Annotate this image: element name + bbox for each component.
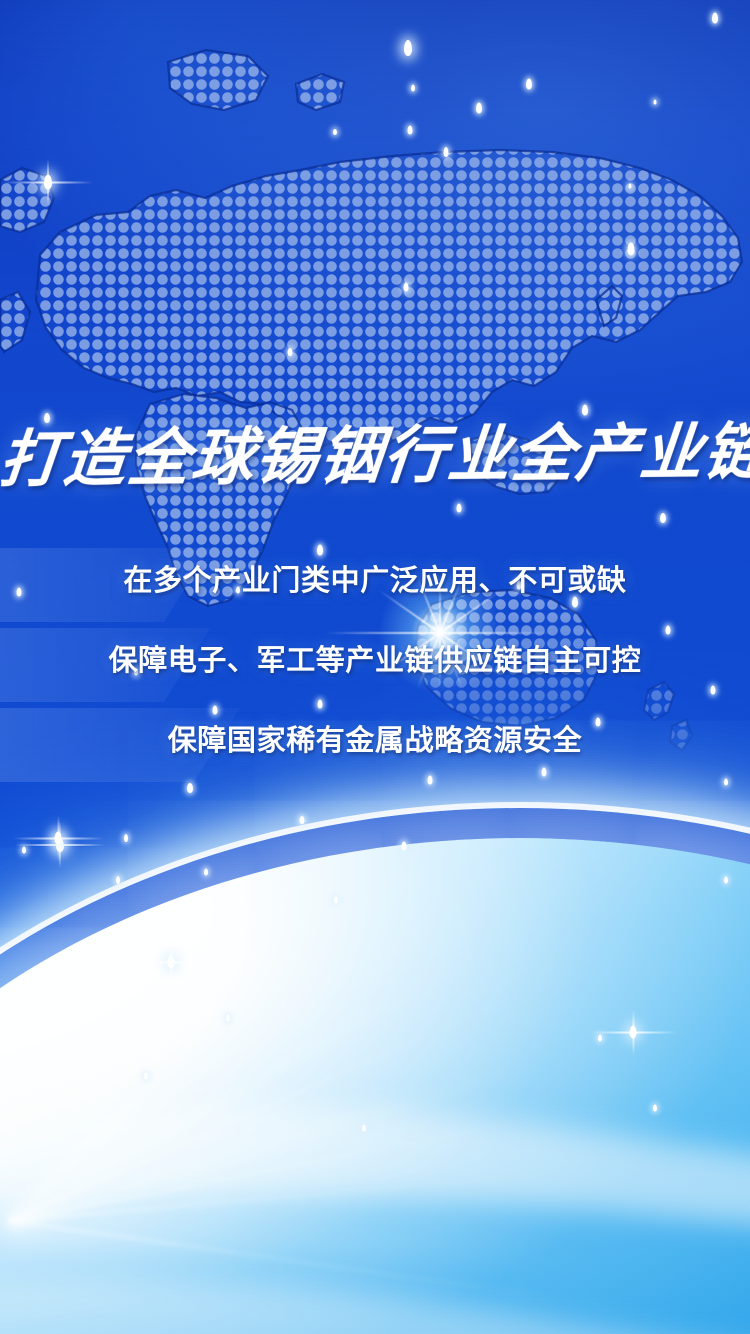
subtitle-line-3: 保障国家稀有金属战略资源安全 <box>0 721 750 761</box>
subtitle-line-2: 保障电子、军工等产业链供应链自主可控 <box>0 641 750 681</box>
subtitle-line-1: 在多个产业门类中广泛应用、不可或缺 <box>0 561 750 601</box>
subtitle-block: 在多个产业门类中广泛应用、不可或缺 保障电子、军工等产业链供应链自主可控 保障国… <box>0 0 750 1334</box>
poster-canvas: 打造全球锡铟行业全产业链链主 在多个产业门类中广泛应用、不可或缺 保障电子、军工… <box>0 0 750 1334</box>
